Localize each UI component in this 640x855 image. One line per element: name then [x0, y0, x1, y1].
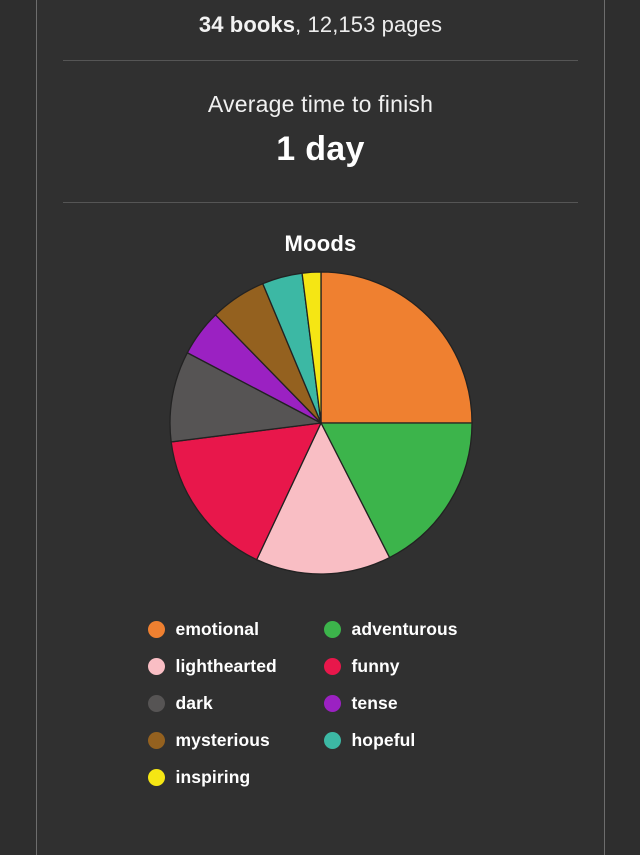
- legend-label-hopeful: hopeful: [352, 730, 416, 751]
- legend-swatch-mysterious: [148, 732, 165, 749]
- divider-middle: [63, 202, 578, 203]
- pages-count: , 12,153 pages: [295, 12, 442, 37]
- reading-summary: 34 books, 12,153 pages: [63, 0, 578, 38]
- legend-swatch-funny: [324, 658, 341, 675]
- legend-item-lighthearted[interactable]: lighthearted: [148, 656, 324, 677]
- legend-item-emotional[interactable]: emotional: [148, 619, 324, 640]
- legend-item-tense[interactable]: tense: [324, 693, 494, 714]
- average-time-block: Average time to finish 1 day: [63, 61, 578, 169]
- legend-swatch-dark: [148, 695, 165, 712]
- legend-label-lighthearted: lighthearted: [176, 656, 277, 677]
- legend-swatch-hopeful: [324, 732, 341, 749]
- moods-chart-container: [63, 267, 578, 597]
- legend-swatch-inspiring: [148, 769, 165, 786]
- moods-legend: emotionaladventurouslightheartedfunnydar…: [148, 611, 494, 796]
- legend-item-hopeful[interactable]: hopeful: [324, 730, 494, 751]
- books-count: 34 books: [199, 12, 295, 37]
- legend-label-tense: tense: [352, 693, 398, 714]
- page-gutter-right: [604, 0, 605, 855]
- moods-pie-chart: [161, 267, 481, 587]
- legend-label-funny: funny: [352, 656, 400, 677]
- stats-page: 34 books, 12,153 pages Average time to f…: [0, 0, 640, 855]
- legend-item-inspiring[interactable]: inspiring: [148, 767, 324, 788]
- legend-item-dark[interactable]: dark: [148, 693, 324, 714]
- moods-section-title: Moods: [63, 231, 578, 257]
- pie-slice-emotional[interactable]: [321, 272, 472, 423]
- stats-panel: 34 books, 12,153 pages Average time to f…: [37, 0, 604, 855]
- legend-swatch-tense: [324, 695, 341, 712]
- legend-label-mysterious: mysterious: [176, 730, 270, 751]
- average-time-label: Average time to finish: [63, 91, 578, 118]
- legend-item-adventurous[interactable]: adventurous: [324, 619, 494, 640]
- legend-label-inspiring: inspiring: [176, 767, 251, 788]
- legend-label-adventurous: adventurous: [352, 619, 458, 640]
- legend-label-dark: dark: [176, 693, 213, 714]
- legend-item-mysterious[interactable]: mysterious: [148, 730, 324, 751]
- legend-label-emotional: emotional: [176, 619, 260, 640]
- legend-swatch-emotional: [148, 621, 165, 638]
- legend-swatch-adventurous: [324, 621, 341, 638]
- legend-swatch-lighthearted: [148, 658, 165, 675]
- legend-item-funny[interactable]: funny: [324, 656, 494, 677]
- average-time-value: 1 day: [63, 130, 578, 169]
